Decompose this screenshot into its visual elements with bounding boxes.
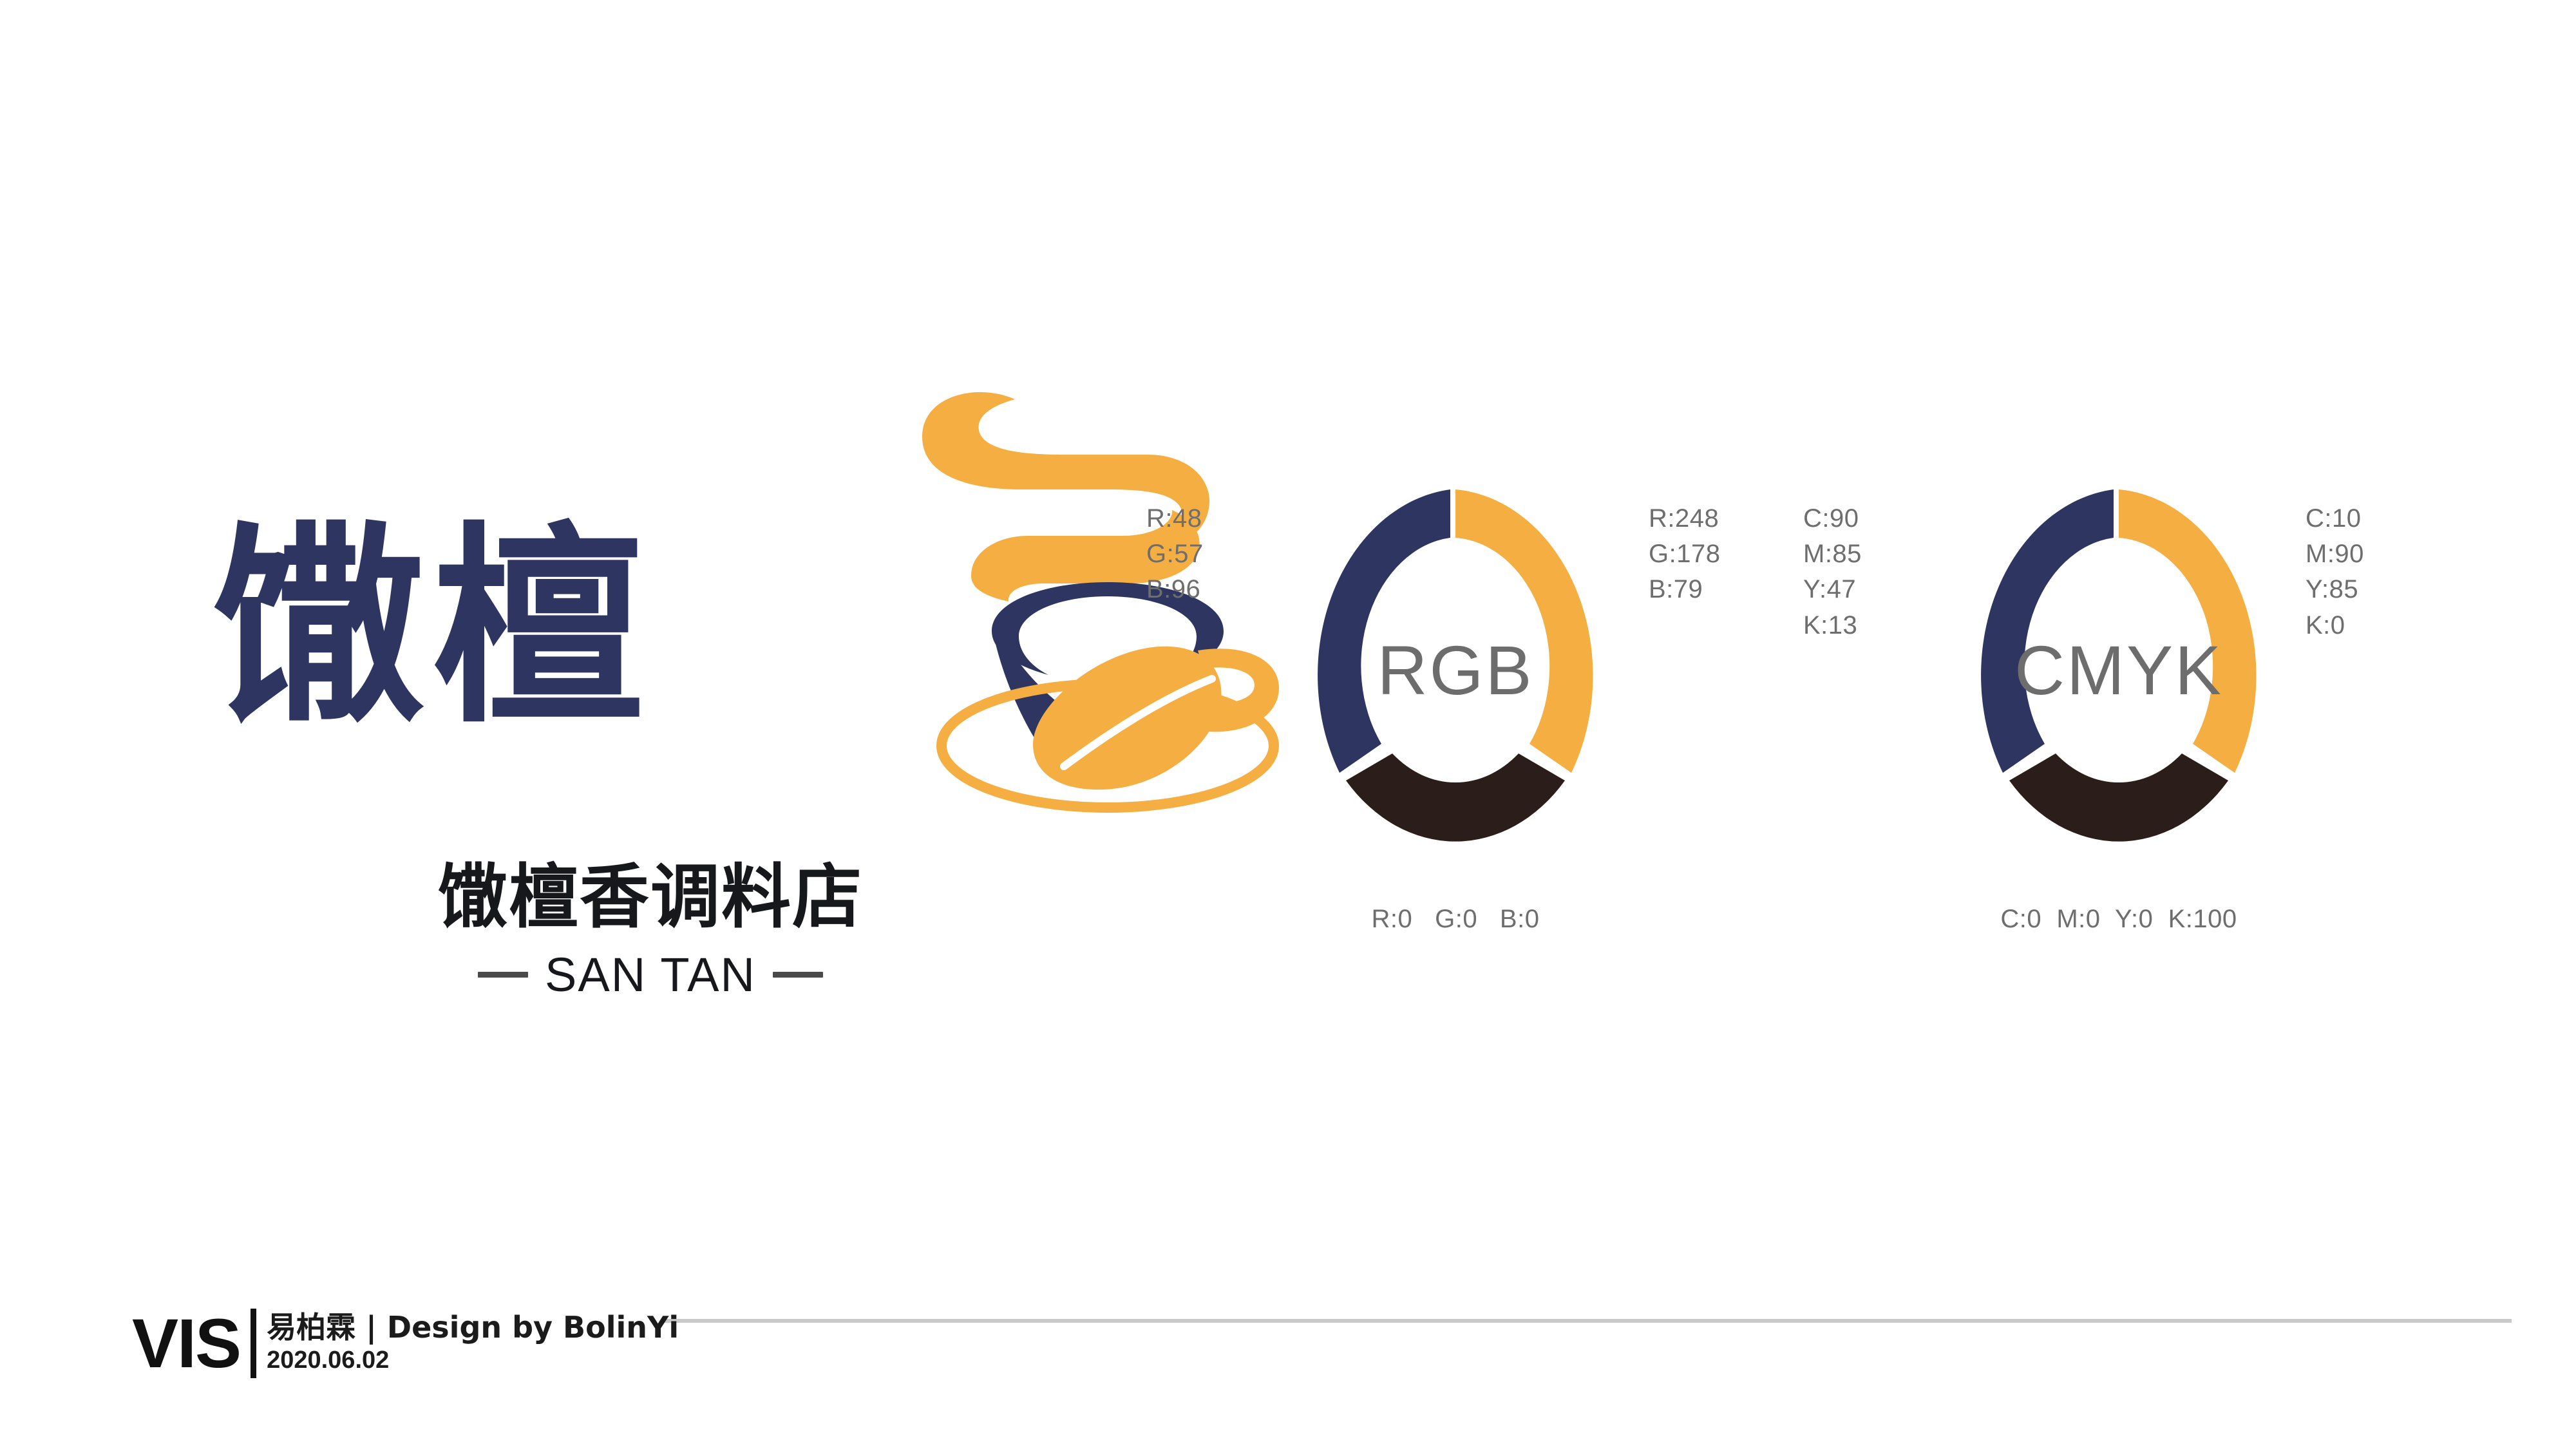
logo-mark-row: 馓檀 [193, 361, 1108, 850]
footer-vis-logo: VIS [132, 1309, 240, 1378]
brand-logo-lockup: 馓檀 [193, 361, 1108, 1056]
tagline-english: SAN TAN [545, 947, 756, 1002]
cmyk-donut-chart [1951, 470, 2286, 869]
rgb-black-label: R:0 G:0 B:0 [1133, 902, 1777, 937]
tagline-dash-right [773, 972, 823, 978]
footer-brand-block: VIS 易柏霖 | Design by BolinYi 2020.06.02 [132, 1309, 679, 1378]
rgb-orange-label: R:248 G:178 B:79 [1649, 501, 1720, 608]
rgb-slice-navy [1318, 489, 1450, 773]
cmyk-slice-black [2009, 753, 2228, 842]
rgb-slice-orange [1455, 489, 1593, 773]
rgb-color-swatch-group: R:48 G:57 B:96 R:248 G:178 B:79 RGB R:0 … [1133, 451, 1777, 1030]
footer-meta-block: 易柏霖 | Design by BolinYi 2020.06.02 [267, 1309, 679, 1375]
brand-tagline-block: 馓檀香调料店 SAN TAN [193, 857, 1108, 1002]
footer-designer-credit: 易柏霖 | Design by BolinYi [267, 1311, 679, 1345]
rgb-slice-black [1346, 753, 1565, 842]
footer-vertical-bar [251, 1309, 256, 1378]
tagline-english-row: SAN TAN [193, 947, 1108, 1002]
tagline-dash-left [478, 972, 528, 978]
tagline-chinese: 馓檀香调料店 [193, 857, 1108, 938]
rgb-navy-label: R:48 G:57 B:96 [1146, 501, 1204, 608]
page-footer: VIS 易柏霖 | Design by BolinYi 2020.06.02 [0, 1301, 2576, 1417]
page-canvas: 馓檀 [0, 0, 2576, 1449]
cmyk-slice-navy [1981, 489, 2114, 773]
cmyk-orange-label: C:10 M:90 Y:85 K:0 [2306, 501, 2364, 643]
brand-wordmark: 馓檀 [213, 522, 650, 734]
cmyk-color-swatch-group: C:90 M:85 Y:47 K:13 C:10 M:90 Y:85 K:0 C… [1797, 451, 2441, 1030]
cmyk-black-label: C:0 M:0 Y:0 K:100 [1797, 902, 2441, 937]
cmyk-navy-label: C:90 M:85 Y:47 K:13 [1803, 501, 1862, 643]
rgb-donut-chart [1288, 470, 1623, 869]
cmyk-slice-orange [2119, 489, 2257, 773]
footer-date: 2020.06.02 [267, 1346, 679, 1376]
footer-divider-rule [663, 1319, 2512, 1323]
